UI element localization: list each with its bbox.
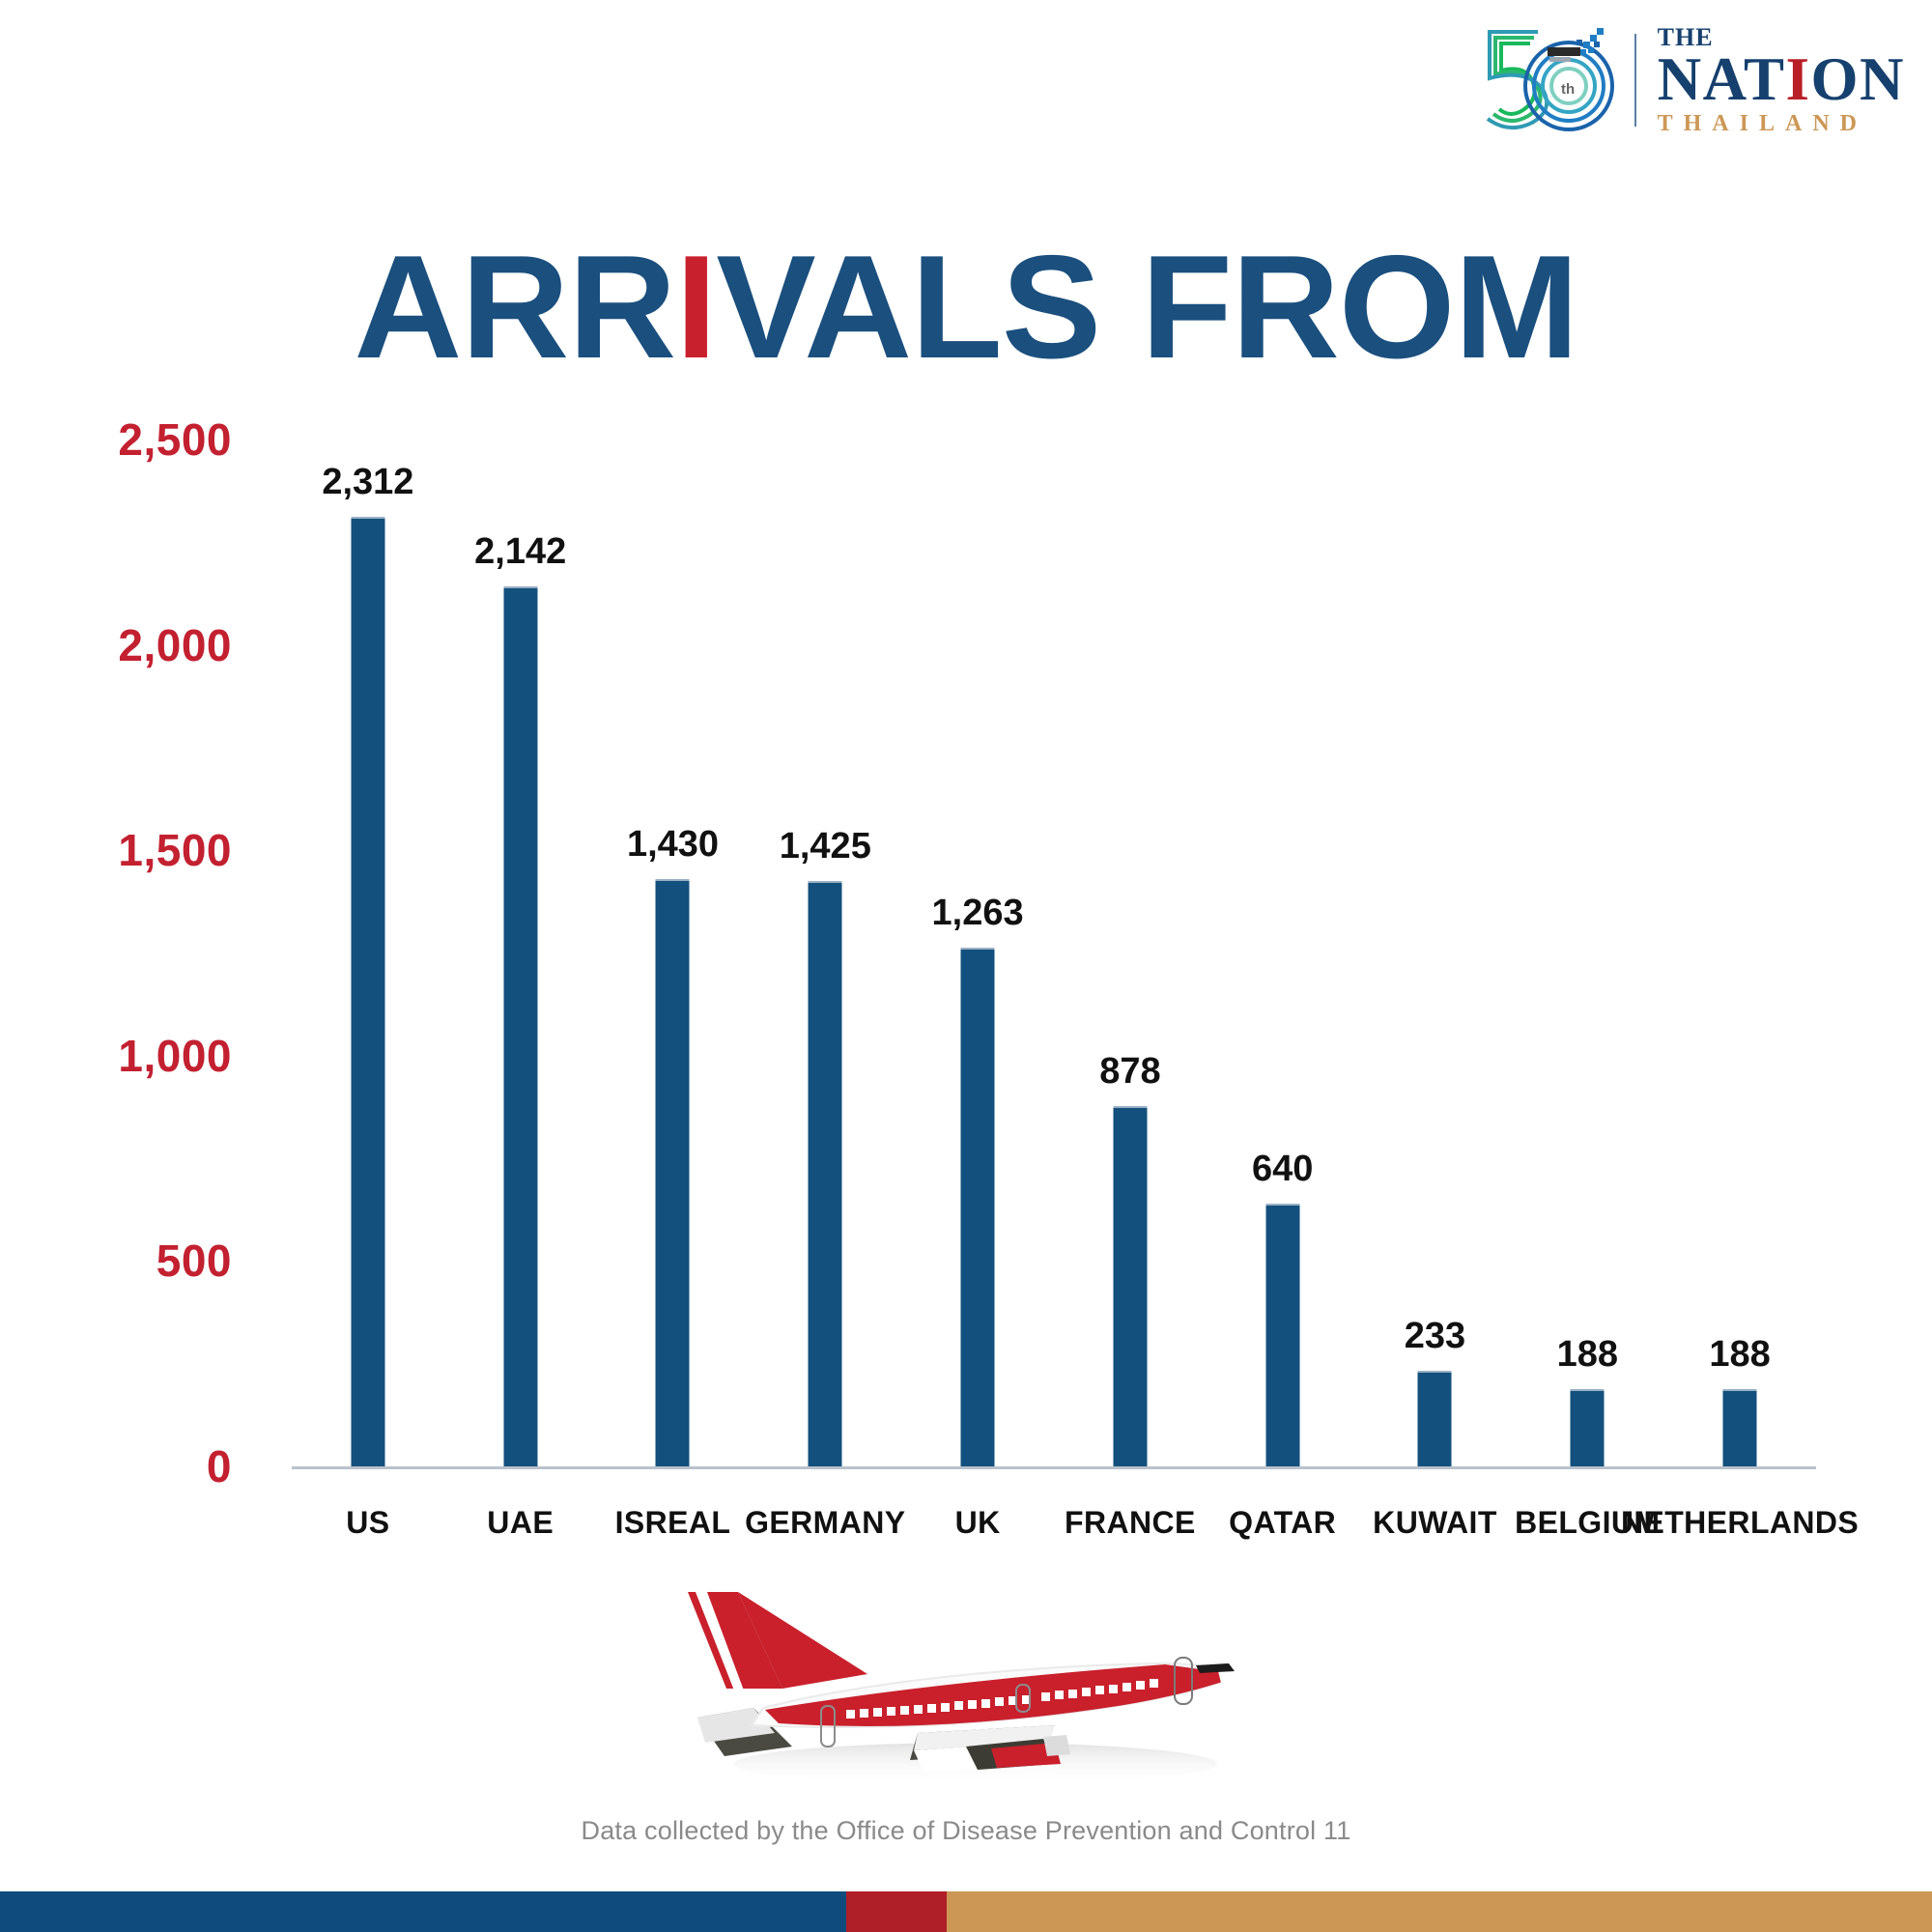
bar[interactable]: [656, 879, 690, 1466]
bar[interactable]: [1265, 1204, 1299, 1466]
bar[interactable]: [1571, 1389, 1605, 1466]
bar-group: 188BELGIUM: [1511, 440, 1663, 1466]
y-axis-tick-label: 1,000: [118, 1030, 232, 1082]
bar-value-label: 2,142: [474, 531, 566, 573]
band-segment-blue: [0, 1891, 846, 1932]
bar-group: 2,142UAE: [444, 440, 597, 1466]
bar-value-label: 640: [1252, 1149, 1313, 1190]
band-segment-red: [846, 1891, 947, 1932]
bottom-color-band: [0, 1891, 1932, 1932]
bar-value-label: 188: [1709, 1334, 1770, 1376]
bar-group: 188NETHERLANDS: [1663, 440, 1816, 1466]
x-axis-category-label: US: [346, 1505, 389, 1541]
y-axis-tick-label: 2,000: [118, 619, 232, 671]
bar-group: 1,263UK: [901, 440, 1054, 1466]
bar-group: 640QATAR: [1207, 440, 1359, 1466]
x-axis-category-label: UK: [955, 1505, 1001, 1541]
x-axis-category-label: UAE: [487, 1505, 554, 1541]
bar-value-label: 188: [1557, 1334, 1618, 1376]
bar-value-label: 233: [1405, 1316, 1465, 1357]
bar[interactable]: [1418, 1371, 1452, 1466]
airplane-icon: [638, 1563, 1275, 1795]
y-axis-tick-label: 1,500: [118, 824, 232, 876]
bar-value-label: 1,425: [780, 826, 871, 867]
bar-group: 1,430ISREAL: [597, 440, 750, 1466]
y-axis-tick-label: 500: [156, 1235, 232, 1287]
bar[interactable]: [503, 586, 537, 1466]
bar[interactable]: [1723, 1389, 1757, 1466]
y-axis-tick-label: 2,500: [118, 413, 232, 466]
bar-group: 878FRANCE: [1054, 440, 1207, 1466]
band-segment-tan: [947, 1891, 1932, 1932]
bar-value-label: 1,430: [627, 824, 719, 866]
plot-area: 2,312US2,142UAE1,430ISREAL1,425GERMANY1,…: [292, 440, 1816, 1466]
x-axis-category-label: NETHERLANDS: [1621, 1505, 1859, 1541]
bar-value-label: 1,263: [932, 893, 1024, 934]
bar-value-label: 878: [1099, 1051, 1160, 1093]
bar[interactable]: [351, 517, 384, 1466]
data-source-credit: Data collected by the Office of Disease …: [0, 1816, 1932, 1846]
x-axis-category-label: KUWAIT: [1373, 1505, 1497, 1541]
x-axis-category-label: FRANCE: [1065, 1505, 1196, 1541]
bar[interactable]: [809, 881, 842, 1466]
bar-group: 1,425GERMANY: [749, 440, 901, 1466]
bar-group: 2,312US: [292, 440, 444, 1466]
bar[interactable]: [961, 948, 995, 1466]
x-axis-category-label: ISREAL: [615, 1505, 731, 1541]
y-axis: 2,5002,0001,5001,0005000: [0, 440, 292, 1466]
x-axis-baseline: [292, 1466, 1816, 1469]
bar[interactable]: [1113, 1106, 1147, 1466]
x-axis-category-label: QATAR: [1229, 1505, 1336, 1541]
y-axis-tick-label: 0: [207, 1440, 232, 1492]
bar-value-label: 2,312: [322, 462, 413, 503]
bar-group: 233KUWAIT: [1359, 440, 1512, 1466]
bar-chart: 2,5002,0001,5001,0005000 2,312US2,142UAE…: [0, 0, 1932, 1565]
x-axis-category-label: GERMANY: [745, 1505, 905, 1541]
